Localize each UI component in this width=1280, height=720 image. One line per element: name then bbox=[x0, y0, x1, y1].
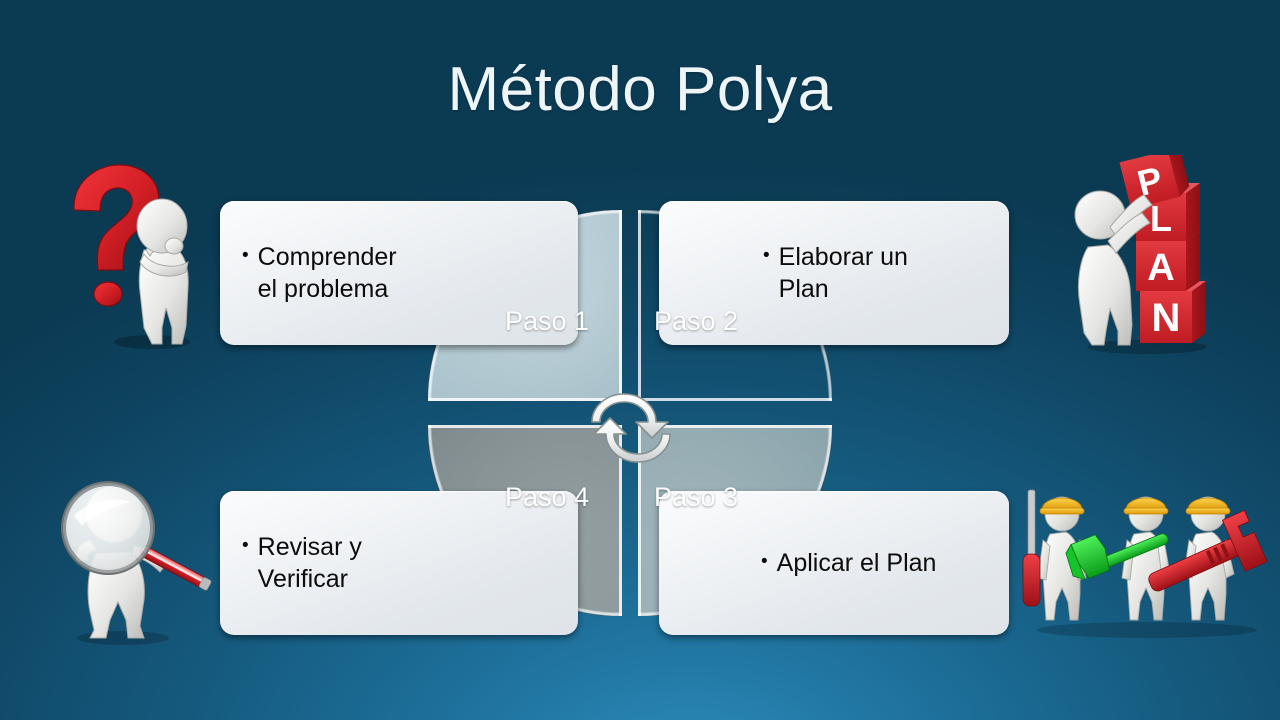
bullet-row: • Revisar y Verificar bbox=[242, 531, 560, 595]
callout-line: Verificar bbox=[258, 565, 348, 593]
callout-line: Revisar y bbox=[258, 533, 362, 561]
callout-line: Comprender bbox=[258, 243, 397, 271]
bullet-icon: • bbox=[763, 241, 770, 270]
bullet-row: • Comprender el problema bbox=[242, 241, 560, 305]
circular-arrows-icon bbox=[576, 378, 686, 478]
three-workers-with-tools-art bbox=[1012, 474, 1280, 639]
callout-line: Elaborar un bbox=[779, 243, 908, 271]
cycle-label-paso-1: Paso 1 bbox=[505, 306, 589, 337]
svg-text:A: A bbox=[1147, 247, 1174, 289]
bullet-icon: • bbox=[242, 241, 249, 270]
callout-line: el problema bbox=[258, 275, 389, 303]
callout-line: Aplicar el Plan bbox=[777, 549, 937, 577]
bullet-row: • Aplicar el Plan bbox=[761, 547, 991, 579]
person-stacking-plan-blocks-art: N A L P bbox=[1052, 155, 1242, 355]
page-title: Método Polya bbox=[0, 56, 1280, 124]
bullet-icon: • bbox=[761, 547, 768, 576]
cycle-label-paso-2: Paso 2 bbox=[654, 306, 738, 337]
slide-canvas: Método Polya bbox=[0, 0, 1280, 720]
callout-text-bottom-right: Aplicar el Plan bbox=[777, 547, 991, 579]
svg-text:L: L bbox=[1150, 198, 1172, 239]
bullet-row: • Elaborar un Plan bbox=[763, 241, 991, 305]
callout-text-top-right: Elaborar un Plan bbox=[779, 241, 991, 305]
callout-line: Plan bbox=[779, 275, 829, 303]
person-with-magnifying-glass-art bbox=[48, 462, 228, 647]
bullet-icon: • bbox=[242, 531, 249, 560]
callout-text-bottom-left: Revisar y Verificar bbox=[258, 531, 560, 595]
cycle-label-paso-3: Paso 3 bbox=[654, 482, 738, 513]
callout-text-top-left: Comprender el problema bbox=[258, 241, 560, 305]
thinking-person-question-mark-art bbox=[48, 158, 218, 353]
cycle-label-paso-4: Paso 4 bbox=[505, 482, 589, 513]
svg-text:N: N bbox=[1152, 296, 1181, 340]
